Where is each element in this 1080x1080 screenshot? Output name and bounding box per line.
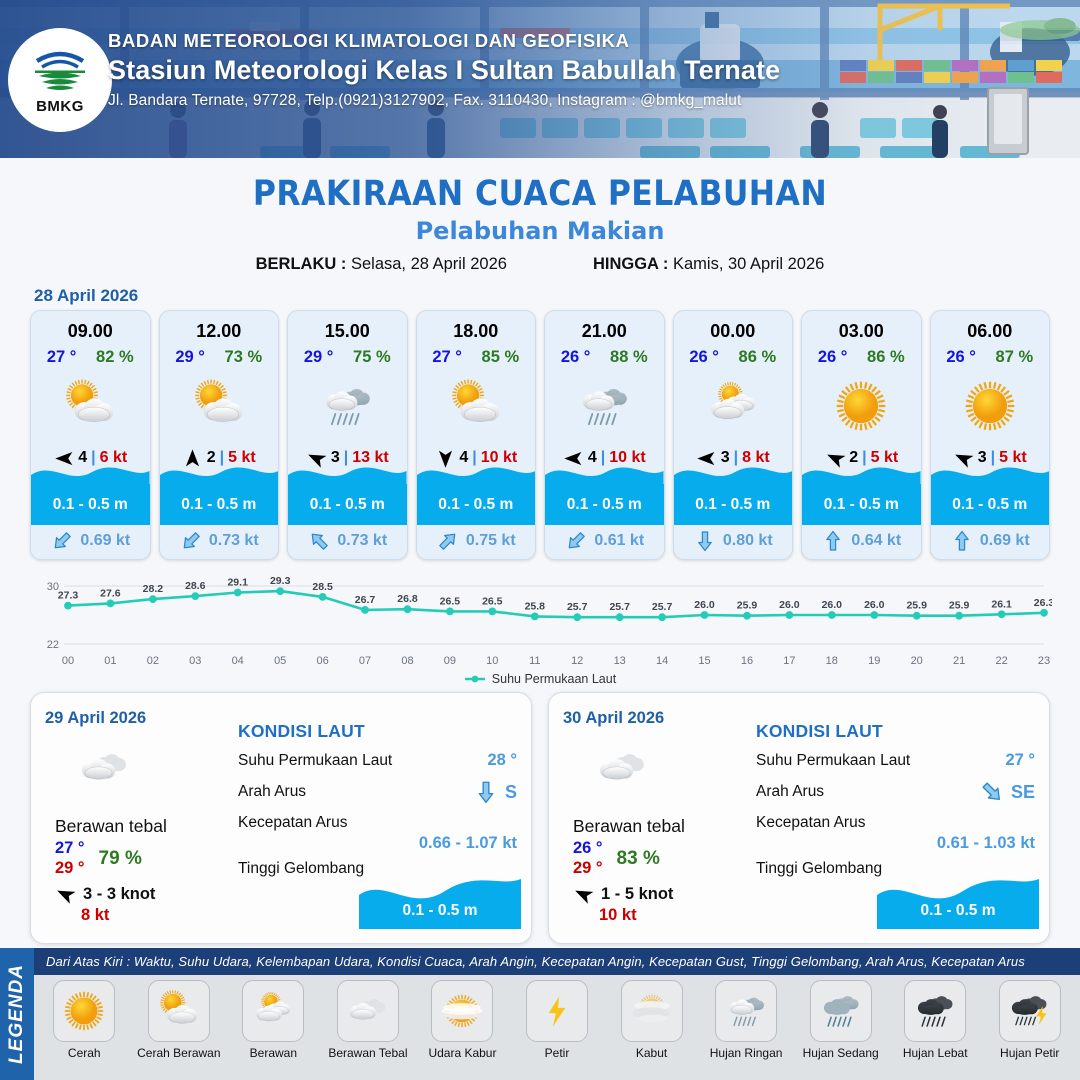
card-temp-hum-row: 26 ° 86 % xyxy=(674,348,793,367)
svg-text:29.1: 29.1 xyxy=(227,577,248,589)
card-current-speed: 0.64 kt xyxy=(851,532,901,550)
card-current-speed: 0.75 kt xyxy=(466,532,516,550)
sst-row: Suhu Permukaan Laut 28 ° xyxy=(238,751,517,770)
sst-row: Suhu Permukaan Laut 27 ° xyxy=(756,751,1035,770)
day-temp-block: 27 ° 29 ° xyxy=(55,839,85,878)
legend-item-label: Hujan Ringan xyxy=(710,1046,783,1060)
svg-text:27.3: 27.3 xyxy=(58,590,79,602)
card-time: 15.00 xyxy=(325,321,370,342)
legend-item: Petir xyxy=(511,980,604,1060)
card-current-speed: 0.80 kt xyxy=(723,532,773,550)
current-speed-label: Kecepatan Arus xyxy=(756,814,1035,832)
forecast-card: 15.00 29 ° 75 % 3 | 1 xyxy=(287,310,408,560)
card-wave-block: 0.1 - 0.5 m xyxy=(545,463,664,525)
bmkg-logo-mark xyxy=(29,45,91,97)
current-direction-icon xyxy=(307,529,331,553)
legend-item: Cerah xyxy=(38,980,131,1060)
legend-icon-berawan xyxy=(242,980,304,1042)
card-wave-height: 0.1 - 0.5 m xyxy=(53,496,128,514)
sst-chart: 223027.30027.60128.20228.60329.10429.305… xyxy=(28,570,1052,670)
day-wind-speed: 3 - 3 knot xyxy=(83,885,155,904)
svg-text:16: 16 xyxy=(741,655,753,667)
svg-text:26.0: 26.0 xyxy=(779,599,800,611)
card-wave-height: 0.1 - 0.5 m xyxy=(952,496,1027,514)
card-humidity: 85 % xyxy=(482,348,520,367)
legend-item-label: Cerah xyxy=(68,1046,101,1060)
wave-crest xyxy=(802,463,921,485)
legend-icon-hujan-petir xyxy=(999,980,1061,1042)
day-temp-max: 29 ° xyxy=(573,859,603,878)
svg-text:07: 07 xyxy=(359,655,371,667)
svg-text:26.0: 26.0 xyxy=(694,599,715,611)
wave-crest xyxy=(545,463,664,485)
day-temp-min: 27 ° xyxy=(55,839,85,858)
day-gust: 8 kt xyxy=(81,906,236,925)
wave-crest xyxy=(931,463,1050,485)
card-temperature: 26 ° xyxy=(689,348,719,367)
legend-item-label: Petir xyxy=(545,1046,570,1060)
card-temp-hum-row: 26 ° 87 % xyxy=(931,348,1050,367)
forecast-card: 06.00 26 ° 87 % 3 | 5 kt 0.1 - 0.5 m xyxy=(930,310,1051,560)
card-wave-block: 0.1 - 0.5 m xyxy=(160,463,279,525)
sea-conditions-title: KONDISI LAUT xyxy=(238,721,517,742)
card-weather-icon xyxy=(828,373,894,439)
svg-text:22: 22 xyxy=(995,655,1007,667)
legend-item: Berawan xyxy=(227,980,320,1060)
legend-item-row: Cerah Cerah Berawan xyxy=(34,975,1080,1080)
card-time: 06.00 xyxy=(967,321,1012,342)
wave-crest xyxy=(160,463,279,485)
hingga-label: HINGGA : xyxy=(593,255,668,273)
berlaku-label: BERLAKU : xyxy=(256,255,347,273)
svg-text:08: 08 xyxy=(401,655,413,667)
card-current-speed: 0.69 kt xyxy=(980,532,1030,550)
legend-content: Dari Atas Kiri : Waktu, Suhu Udara, Kele… xyxy=(34,948,1080,1080)
current-direction-icon xyxy=(979,779,1005,805)
day-date: 30 April 2026 xyxy=(563,709,754,728)
day-condition: Berawan tebal xyxy=(573,816,754,837)
card-current-speed: 0.69 kt xyxy=(80,532,130,550)
card-wave-height: 0.1 - 0.5 m xyxy=(695,496,770,514)
legend-item-label: Hujan Sedang xyxy=(803,1046,879,1060)
daily-forecast-panel: 29 April 2026 Berawan tebal 27 ° xyxy=(30,692,532,944)
card-current-row: 0.64 kt xyxy=(802,526,921,556)
legend-item: Berawan Tebal xyxy=(322,980,415,1060)
card-current-row: 0.73 kt xyxy=(288,526,407,556)
card-temp-hum-row: 27 ° 85 % xyxy=(417,348,536,367)
svg-text:25.9: 25.9 xyxy=(949,600,970,612)
card-temperature: 27 ° xyxy=(432,348,462,367)
wave-band: 0.1 - 0.5 m xyxy=(802,484,921,525)
bmkg-logo: BMKG xyxy=(8,28,112,132)
day-wind-direction-icon xyxy=(55,884,77,904)
page-header: BMKG BADAN METEOROLOGI KLIMATOLOGI DAN G… xyxy=(0,0,1080,158)
card-time: 12.00 xyxy=(196,321,241,342)
current-direction-row: Arah Arus S xyxy=(238,779,517,805)
svg-text:28.2: 28.2 xyxy=(143,583,164,595)
chart-legend-marker xyxy=(464,674,486,684)
card-temperature: 29 ° xyxy=(304,348,334,367)
svg-text:10: 10 xyxy=(486,655,498,667)
card-wave-block: 0.1 - 0.5 m xyxy=(802,463,921,525)
sst-value: 28 ° xyxy=(487,751,517,770)
page-title: PRAKIRAAN CUACA PELABUHAN xyxy=(0,174,1080,214)
svg-text:25.7: 25.7 xyxy=(567,601,588,613)
svg-text:12: 12 xyxy=(571,655,583,667)
card-temp-hum-row: 26 ° 88 % xyxy=(545,348,664,367)
berlaku-block: BERLAKU : Selasa, 28 April 2026 xyxy=(256,255,507,274)
legend-item-label: Hujan Petir xyxy=(1000,1046,1059,1060)
day-temp-max: 29 ° xyxy=(55,859,85,878)
legend-icon-udara-kabur xyxy=(431,980,493,1042)
legend-icon-kabut xyxy=(621,980,683,1042)
current-speed-value: 0.66 - 1.07 kt xyxy=(238,834,517,853)
svg-text:25.7: 25.7 xyxy=(652,601,673,613)
hingga-value: Kamis, 30 April 2026 xyxy=(673,255,824,273)
agency-name: BADAN METEOROLOGI KLIMATOLOGI DAN GEOFIS… xyxy=(108,30,1008,52)
day-left-block: 29 April 2026 Berawan tebal 27 ° xyxy=(31,693,236,943)
svg-text:23: 23 xyxy=(1038,655,1050,667)
header-text-block: BADAN METEOROLOGI KLIMATOLOGI DAN GEOFIS… xyxy=(108,30,1008,110)
svg-text:26.3: 26.3 xyxy=(1034,597,1052,609)
day-temp-hum-row: 26 ° 29 ° 83 % xyxy=(573,839,754,878)
card-temp-hum-row: 29 ° 75 % xyxy=(288,348,407,367)
day-sea-block: KONDISI LAUT Suhu Permukaan Laut 27 ° Ar… xyxy=(754,693,1049,943)
legend-item-label: Berawan xyxy=(250,1046,297,1060)
legend-item-label: Cerah Berawan xyxy=(137,1046,220,1060)
wave-band: 0.1 - 0.5 m xyxy=(417,484,536,525)
card-wave-block: 0.1 - 0.5 m xyxy=(931,463,1050,525)
forecast-date-label: 28 April 2026 xyxy=(34,286,1080,306)
card-current-row: 0.69 kt xyxy=(931,526,1050,556)
svg-text:20: 20 xyxy=(911,655,923,667)
current-speed-label: Kecepatan Arus xyxy=(238,814,517,832)
wave-band: 0.1 - 0.5 m xyxy=(931,484,1050,525)
wave-crest xyxy=(31,463,150,485)
svg-text:26.7: 26.7 xyxy=(355,594,376,606)
svg-text:27.6: 27.6 xyxy=(100,587,121,599)
sst-label: Suhu Permukaan Laut xyxy=(238,752,392,770)
day-temp-min: 26 ° xyxy=(573,839,603,858)
card-wave-block: 0.1 - 0.5 m xyxy=(288,463,407,525)
legend-item-label: Hujan Lebat xyxy=(903,1046,968,1060)
svg-text:21: 21 xyxy=(953,655,965,667)
page-subtitle: Pelabuhan Makian xyxy=(0,217,1080,245)
card-temperature: 26 ° xyxy=(561,348,591,367)
forecast-card: 18.00 27 ° 85 % 4 | 10 kt xyxy=(416,310,537,560)
day-gust: 10 kt xyxy=(599,906,754,925)
legend-note: Dari Atas Kiri : Waktu, Suhu Udara, Kele… xyxy=(34,948,1080,975)
card-weather-icon xyxy=(443,373,509,439)
card-humidity: 87 % xyxy=(996,348,1034,367)
card-temperature: 26 ° xyxy=(818,348,848,367)
wave-band: 0.1 - 0.5 m xyxy=(160,484,279,525)
card-wave-height: 0.1 - 0.5 m xyxy=(310,496,385,514)
card-current-speed: 0.61 kt xyxy=(594,532,644,550)
svg-text:15: 15 xyxy=(698,655,710,667)
card-current-row: 0.61 kt xyxy=(545,526,664,556)
legend-icon-hujan-lebat xyxy=(904,980,966,1042)
card-temp-hum-row: 29 ° 73 % xyxy=(160,348,279,367)
wave-crest xyxy=(288,463,407,485)
svg-text:22: 22 xyxy=(47,639,59,651)
card-humidity: 88 % xyxy=(610,348,648,367)
card-current-row: 0.75 kt xyxy=(417,526,536,556)
card-weather-icon xyxy=(700,373,766,439)
current-direction-icon xyxy=(436,529,460,553)
legend-item: Hujan Petir xyxy=(983,980,1076,1060)
card-time: 18.00 xyxy=(453,321,498,342)
berlaku-value: Selasa, 28 April 2026 xyxy=(351,255,507,273)
station-name: Stasiun Meteorologi Kelas I Sultan Babul… xyxy=(108,55,1008,86)
svg-text:25.9: 25.9 xyxy=(737,600,758,612)
card-humidity: 86 % xyxy=(867,348,905,367)
current-direction-icon xyxy=(821,529,845,553)
legend-icon-hujan-sedang xyxy=(810,980,872,1042)
card-current-row: 0.69 kt xyxy=(31,526,150,556)
svg-text:26.5: 26.5 xyxy=(440,595,461,607)
day-temp-hum-row: 27 ° 29 ° 79 % xyxy=(55,839,236,878)
day-weather-icon xyxy=(591,738,754,800)
card-wave-height: 0.1 - 0.5 m xyxy=(181,496,256,514)
day-temp-block: 26 ° 29 ° xyxy=(573,839,603,878)
card-time: 09.00 xyxy=(68,321,113,342)
hingga-block: HINGGA : Kamis, 30 April 2026 xyxy=(593,255,824,274)
day-left-block: 30 April 2026 Berawan tebal 26 ° xyxy=(549,693,754,943)
card-weather-icon xyxy=(186,373,252,439)
day-wind-row: 3 - 3 knot xyxy=(55,884,236,904)
svg-text:26.8: 26.8 xyxy=(397,593,418,605)
legend-item: Cerah Berawan xyxy=(133,980,226,1060)
svg-text:02: 02 xyxy=(147,655,159,667)
station-contact: Jl. Bandara Ternate, 97728, Telp.(0921)3… xyxy=(108,92,1008,110)
svg-text:09: 09 xyxy=(444,655,456,667)
current-direction-icon xyxy=(50,529,74,553)
current-direction-label: Arah Arus xyxy=(756,783,824,801)
card-humidity: 86 % xyxy=(739,348,777,367)
svg-text:19: 19 xyxy=(868,655,880,667)
current-speed-value: 0.61 - 1.03 kt xyxy=(756,834,1035,853)
legend-icon-petir xyxy=(526,980,588,1042)
day-wind-row: 1 - 5 knot xyxy=(573,884,754,904)
sst-chart-svg: 223027.30027.60128.20228.60329.10429.305… xyxy=(28,570,1052,670)
current-direction-icon xyxy=(473,779,499,805)
card-current-speed: 0.73 kt xyxy=(337,532,387,550)
svg-text:28.6: 28.6 xyxy=(185,580,206,592)
svg-text:26.5: 26.5 xyxy=(482,595,503,607)
day-weather-icon xyxy=(73,738,236,800)
chart-legend: Suhu Permukaan Laut xyxy=(0,672,1080,686)
wave-band: 0.1 - 0.5 m xyxy=(288,484,407,525)
svg-text:25.7: 25.7 xyxy=(609,601,630,613)
bmkg-logo-text: BMKG xyxy=(36,98,84,115)
svg-text:06: 06 xyxy=(316,655,328,667)
card-temp-hum-row: 26 ° 86 % xyxy=(802,348,921,367)
forecast-card: 00.00 26 ° 86 % 3 | 8 xyxy=(673,310,794,560)
sst-value: 27 ° xyxy=(1005,751,1035,770)
svg-text:17: 17 xyxy=(783,655,795,667)
svg-text:11: 11 xyxy=(529,655,540,667)
legend-icon-cerah xyxy=(53,980,115,1042)
svg-text:01: 01 xyxy=(104,655,116,667)
legend-item-label: Kabut xyxy=(636,1046,667,1060)
day-wind-direction-icon xyxy=(573,884,595,904)
current-direction-block: S xyxy=(473,779,517,805)
day-date: 29 April 2026 xyxy=(45,709,236,728)
wave-height-badge: 0.1 - 0.5 m xyxy=(359,873,521,929)
legend-item: Udara Kabur xyxy=(416,980,509,1060)
card-wave-block: 0.1 - 0.5 m xyxy=(417,463,536,525)
card-wave-height: 0.1 - 0.5 m xyxy=(567,496,642,514)
svg-text:14: 14 xyxy=(656,655,668,667)
sst-label: Suhu Permukaan Laut xyxy=(756,752,910,770)
legend-item: Hujan Ringan xyxy=(700,980,793,1060)
svg-text:25.8: 25.8 xyxy=(525,600,546,612)
card-time: 03.00 xyxy=(839,321,884,342)
legend-item: Hujan Sedang xyxy=(794,980,887,1060)
current-direction-icon xyxy=(179,529,203,553)
svg-text:26.0: 26.0 xyxy=(864,599,885,611)
current-speed-row: Kecepatan Arus 0.66 - 1.07 kt xyxy=(238,814,517,853)
card-temp-hum-row: 27 ° 82 % xyxy=(31,348,150,367)
card-humidity: 82 % xyxy=(96,348,134,367)
svg-text:04: 04 xyxy=(232,655,244,667)
svg-text:28.5: 28.5 xyxy=(312,581,333,593)
wave-band: 0.1 - 0.5 m xyxy=(31,484,150,525)
wave-crest xyxy=(417,463,536,485)
card-time: 21.00 xyxy=(582,321,627,342)
current-direction-row: Arah Arus SE xyxy=(756,779,1035,805)
sea-conditions-title: KONDISI LAUT xyxy=(756,721,1035,742)
card-temperature: 27 ° xyxy=(47,348,77,367)
card-current-speed: 0.73 kt xyxy=(209,532,259,550)
daily-forecast-row: 29 April 2026 Berawan tebal 27 ° xyxy=(0,686,1080,944)
card-wave-block: 0.1 - 0.5 m xyxy=(31,463,150,525)
card-current-row: 0.80 kt xyxy=(674,526,793,556)
card-temperature: 29 ° xyxy=(175,348,205,367)
card-humidity: 73 % xyxy=(225,348,263,367)
daily-forecast-panel: 30 April 2026 Berawan tebal 26 ° xyxy=(548,692,1050,944)
legend-item-label: Berawan Tebal xyxy=(328,1046,407,1060)
svg-text:18: 18 xyxy=(826,655,838,667)
card-wave-block: 0.1 - 0.5 m xyxy=(674,463,793,525)
wave-shape xyxy=(877,873,1039,929)
card-weather-icon xyxy=(571,373,637,439)
svg-text:29.3: 29.3 xyxy=(270,575,291,587)
legend-item: Kabut xyxy=(605,980,698,1060)
validity-row: BERLAKU : Selasa, 28 April 2026 HINGGA :… xyxy=(0,255,1080,274)
wave-band: 0.1 - 0.5 m xyxy=(674,484,793,525)
card-humidity: 75 % xyxy=(353,348,391,367)
card-weather-icon xyxy=(957,373,1023,439)
day-humidity: 83 % xyxy=(617,848,660,870)
forecast-card-row: 09.00 27 ° 82 % 4 | 6 kt xyxy=(0,310,1080,560)
wave-height-value: 0.1 - 0.5 m xyxy=(877,902,1039,920)
wave-band: 0.1 - 0.5 m xyxy=(545,484,664,525)
forecast-card: 09.00 27 ° 82 % 4 | 6 kt xyxy=(30,310,151,560)
svg-text:13: 13 xyxy=(614,655,626,667)
day-sea-block: KONDISI LAUT Suhu Permukaan Laut 28 ° Ar… xyxy=(236,693,531,943)
svg-text:00: 00 xyxy=(62,655,74,667)
day-condition: Berawan tebal xyxy=(55,816,236,837)
current-direction-value: S xyxy=(505,782,517,803)
wave-crest xyxy=(674,463,793,485)
legenda-strip-label: LEGENDA xyxy=(6,964,28,1064)
current-speed-row: Kecepatan Arus 0.61 - 1.03 kt xyxy=(756,814,1035,853)
svg-text:26.1: 26.1 xyxy=(991,598,1012,610)
current-direction-value: SE xyxy=(1011,782,1035,803)
legenda-strip: LEGENDA xyxy=(0,948,34,1080)
svg-text:05: 05 xyxy=(274,655,286,667)
svg-text:25.9: 25.9 xyxy=(906,600,927,612)
current-direction-icon xyxy=(564,529,588,553)
current-direction-block: SE xyxy=(979,779,1035,805)
forecast-card: 12.00 29 ° 73 % 2 | 5 kt xyxy=(159,310,280,560)
legend-icon-berawan-tebal xyxy=(337,980,399,1042)
card-time: 00.00 xyxy=(710,321,755,342)
legend-section: LEGENDA Dari Atas Kiri : Waktu, Suhu Uda… xyxy=(0,948,1080,1080)
legend-icon-hujan-ringan xyxy=(715,980,777,1042)
chart-legend-label: Suhu Permukaan Laut xyxy=(492,672,616,686)
current-direction-icon xyxy=(693,529,717,553)
card-wave-height: 0.1 - 0.5 m xyxy=(824,496,899,514)
card-current-row: 0.73 kt xyxy=(160,526,279,556)
wave-height-badge: 0.1 - 0.5 m xyxy=(877,873,1039,929)
legend-item-label: Udara Kabur xyxy=(428,1046,496,1060)
card-wave-height: 0.1 - 0.5 m xyxy=(438,496,513,514)
card-weather-icon xyxy=(57,373,123,439)
legend-icon-cerah-berawan xyxy=(148,980,210,1042)
current-direction-label: Arah Arus xyxy=(238,783,306,801)
card-weather-icon xyxy=(314,373,380,439)
day-humidity: 79 % xyxy=(99,848,142,870)
legend-item: Hujan Lebat xyxy=(889,980,982,1060)
forecast-card: 21.00 26 ° 88 % 4 | 1 xyxy=(544,310,665,560)
forecast-card: 03.00 26 ° 86 % 2 | 5 kt 0.1 - 0.5 m xyxy=(801,310,922,560)
current-direction-icon xyxy=(950,529,974,553)
wave-height-value: 0.1 - 0.5 m xyxy=(359,902,521,920)
card-temperature: 26 ° xyxy=(946,348,976,367)
svg-text:26.0: 26.0 xyxy=(822,599,843,611)
svg-text:03: 03 xyxy=(189,655,201,667)
day-wind-speed: 1 - 5 knot xyxy=(601,885,673,904)
wave-shape xyxy=(359,873,521,929)
